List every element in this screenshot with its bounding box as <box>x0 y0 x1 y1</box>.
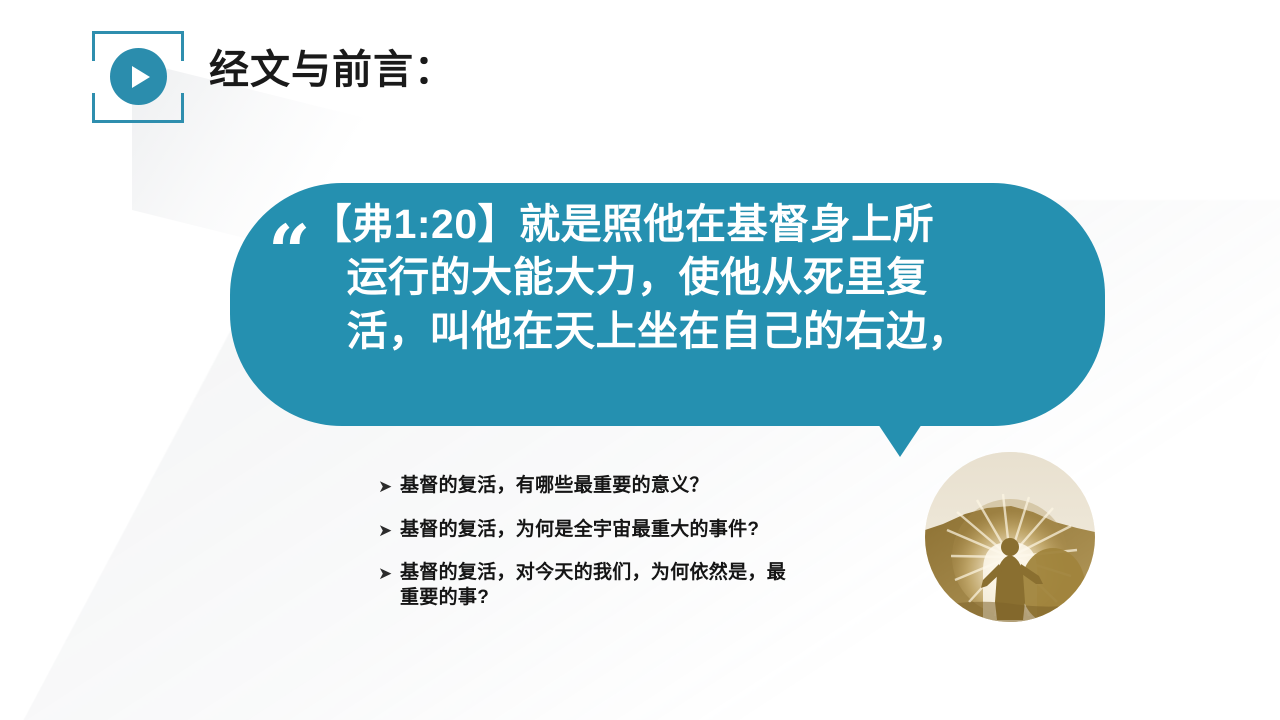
frame-right-top-stub <box>181 31 184 61</box>
frame-top-edge <box>92 31 184 34</box>
list-item: ➤ 基督的复活，有哪些最重要的意义？ <box>378 474 918 499</box>
arrow-bullet-icon: ➤ <box>378 478 400 495</box>
frame-left-bottom-stub <box>92 93 95 123</box>
play-button-icon[interactable] <box>110 48 167 105</box>
question-list: ➤ 基督的复活，有哪些最重要的意义？ ➤ 基督的复活，为何是全宇宙最重大的事件?… <box>378 474 918 611</box>
quote-bubble-tail <box>878 424 922 457</box>
list-item-line: 基督的复活，对今天的我们，为何依然是，最 <box>400 562 786 583</box>
frame-bottom-edge <box>92 120 184 123</box>
frame-right-bottom-stub <box>181 93 184 123</box>
list-item-line: 基督的复活，为何是全宇宙最重大的事件? <box>400 519 759 540</box>
quote-mark-icon: “ <box>268 216 307 290</box>
resurrection-photo <box>925 452 1095 622</box>
slide-header: 经文与前言： <box>0 0 1280 150</box>
quote-line-3: 活，叫他在天上坐在自己的右边， <box>311 305 1068 358</box>
slide: 经文与前言： “ 【弗1:20】就是照他在基督身上所 运行的大能大力，使他从死里… <box>0 0 1280 720</box>
list-item-label: 基督的复活，对今天的我们，为何依然是，最 重要的事? <box>400 561 918 610</box>
list-item-line: 基督的复活，有哪些最重要的意义？ <box>400 475 709 496</box>
quote-line-2: 运行的大能大力，使他从死里复 <box>311 251 1068 304</box>
list-item-label: 基督的复活，有哪些最重要的意义？ <box>400 474 918 499</box>
play-triangle-icon <box>132 66 150 88</box>
arrow-bullet-icon: ➤ <box>378 565 400 582</box>
page-title: 经文与前言： <box>209 48 455 92</box>
frame-left-top-stub <box>92 31 95 61</box>
list-item-line: 重要的事? <box>400 587 489 608</box>
quote-bubble-content: “ 【弗1:20】就是照他在基督身上所 运行的大能大力，使他从死里复 活，叫他在… <box>268 198 1068 413</box>
arrow-bullet-icon: ➤ <box>378 522 400 539</box>
list-item: ➤ 基督的复活，对今天的我们，为何依然是，最 重要的事? <box>378 561 918 610</box>
list-item-label: 基督的复活，为何是全宇宙最重大的事件? <box>400 518 918 543</box>
quote-text: 【弗1:20】就是照他在基督身上所 运行的大能大力，使他从死里复 活，叫他在天上… <box>311 198 1068 358</box>
quote-line-1: 【弗1:20】就是照他在基督身上所 <box>311 198 1068 251</box>
list-item: ➤ 基督的复活，为何是全宇宙最重大的事件? <box>378 518 918 543</box>
resurrection-photo-art <box>925 452 1095 622</box>
